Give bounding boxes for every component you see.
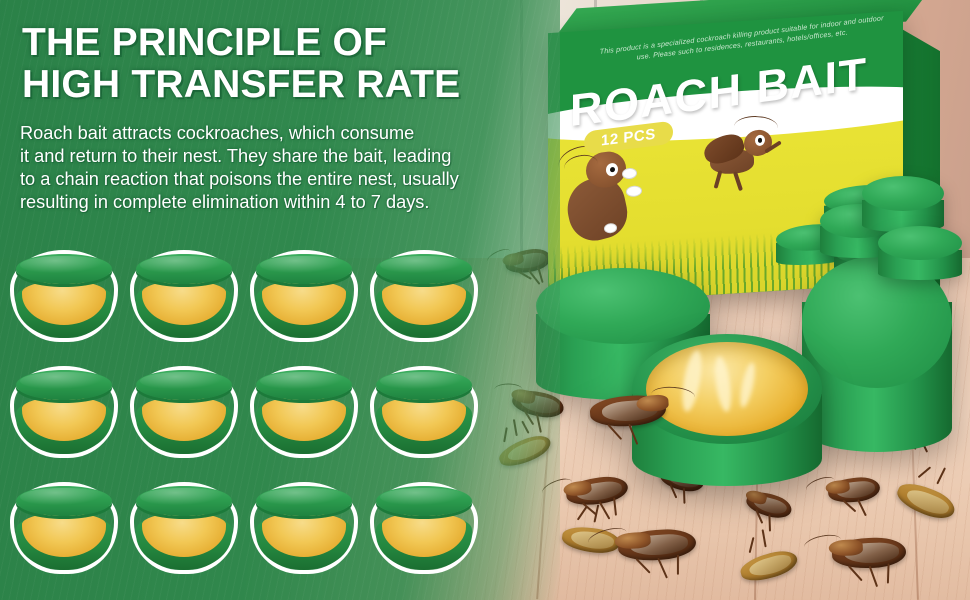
gel-swirl	[737, 361, 757, 408]
cartoon-roach-large	[566, 145, 650, 246]
body-line: resulting in complete elimination within…	[20, 191, 550, 214]
bait-container	[128, 480, 240, 576]
headline-line-1: THE PRINCIPLE OF	[22, 22, 542, 64]
cartoon-roach-antenna	[733, 115, 779, 139]
roach-feeding	[589, 393, 667, 428]
description-paragraph: Roach bait attracts cockroaches, which c…	[20, 122, 550, 214]
bait-puck-stack-right	[802, 256, 952, 452]
headline-line-2: HIGH TRANSFER RATE	[22, 64, 542, 106]
bait-container	[368, 248, 480, 344]
bait-container	[8, 480, 120, 576]
bait-container	[368, 480, 480, 576]
roach-leg	[682, 488, 685, 504]
bait-container	[368, 364, 480, 460]
cartoon-roach-leg	[714, 170, 723, 188]
product-banner: KEEP ROACH AWAY ROACH BAIT 12 PCS	[0, 0, 970, 600]
body-line: Roach bait attracts cockroaches, which c…	[20, 122, 550, 145]
puck-top	[878, 226, 962, 260]
cartoon-roach-running	[700, 120, 784, 195]
body-line: to a chain reaction that poisons the ent…	[20, 168, 550, 191]
roach-leg	[677, 555, 679, 575]
hero-open-bait-container	[632, 334, 822, 486]
bait-container	[248, 364, 360, 460]
cartoon-roach-hand	[626, 185, 642, 197]
bait-container	[248, 480, 360, 576]
cartoon-roach-leg	[733, 171, 743, 191]
bait-puck-small	[862, 176, 944, 232]
roach-leg	[768, 514, 771, 531]
gel-swirl	[712, 355, 734, 412]
body-line: it and return to their nest. They share …	[20, 145, 550, 168]
puck-top	[862, 176, 944, 211]
bait-container	[128, 364, 240, 460]
bait-container	[8, 248, 120, 344]
cartoon-roach-hand	[622, 168, 637, 180]
bait-container	[128, 248, 240, 344]
roach	[831, 537, 906, 570]
roach	[617, 527, 697, 562]
bait-container	[248, 248, 360, 344]
bait-container	[8, 364, 120, 460]
page-title: THE PRINCIPLE OF HIGH TRANSFER RATE	[22, 22, 542, 106]
bait-puck-small	[878, 226, 962, 280]
puck-top	[536, 268, 710, 344]
